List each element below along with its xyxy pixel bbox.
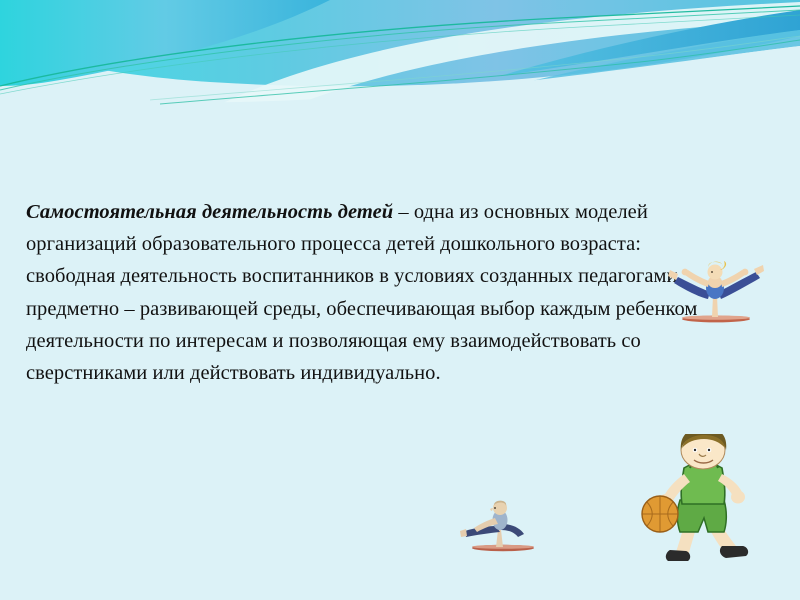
shirt-torso: [493, 510, 508, 530]
wave-shape-blue-band-2: [520, 30, 800, 84]
left-shoe: [666, 550, 690, 561]
nose: [699, 454, 706, 456]
decorative-wave-band: [0, 0, 800, 120]
left-hand: [659, 494, 673, 506]
low-beam: [472, 545, 534, 551]
basketball: [642, 496, 678, 532]
basketball-seams: [642, 496, 678, 532]
right-eye: [707, 448, 712, 453]
slide-body-text: Самостоятельная деятельность детей – одн…: [26, 196, 750, 389]
wave-shape-base-fill: [0, 46, 800, 120]
left-arm: [664, 474, 690, 502]
boy-dribbling-basketball-clipart: [640, 434, 764, 570]
wave-shape-pale-swoosh: [190, 2, 800, 120]
extended-leg: [465, 526, 500, 537]
hair-highlight: [682, 435, 725, 448]
wave-shape-primary: [0, 0, 800, 86]
wave-line-teal-1: [0, 6, 800, 86]
hair: [681, 434, 726, 450]
left-pupil: [694, 449, 696, 451]
jersey-strap-left: [690, 460, 700, 468]
wave-line-teal-3: [0, 15, 800, 94]
jersey-strap-right: [708, 460, 718, 468]
shorts: [677, 500, 726, 532]
body-paragraph: Самостоятельная деятельность детей – одн…: [26, 196, 750, 389]
basketball-boy-svg: [640, 434, 764, 570]
raised-foot: [754, 265, 764, 275]
body-paragraph-2: свободная деятельность воспитанников в у…: [26, 265, 697, 384]
mouth: [694, 460, 713, 463]
right-leg: [704, 512, 736, 554]
gymnast-bar-svg: [460, 496, 546, 554]
forward-arm: [474, 518, 498, 532]
left-eye: [693, 448, 698, 453]
right-shoe: [720, 546, 748, 558]
wave-shape-deep-blue-band: [500, 10, 800, 76]
face-profile: [490, 508, 493, 511]
right-pupil: [708, 449, 710, 451]
wave-line-teal-5: [150, 36, 800, 100]
hair: [494, 501, 506, 506]
right-hand: [731, 491, 745, 504]
wave-line-teal-2: [0, 10, 800, 90]
head: [681, 434, 725, 469]
wave-graphic: [0, 0, 800, 120]
low-beam-top: [472, 545, 534, 549]
presentation-slide: Самостоятельная деятельность детей – одн…: [0, 0, 800, 600]
wave-line-teal-4: [160, 40, 800, 104]
eye: [494, 507, 496, 509]
neck: [696, 456, 710, 466]
rear-leg: [501, 524, 524, 537]
head: [493, 501, 507, 515]
support-leg: [496, 530, 503, 547]
extended-foot: [460, 529, 467, 537]
gymnast-on-low-bar-clipart: [460, 496, 546, 554]
jersey: [681, 463, 725, 504]
wave-shape-left-wedge: [0, 0, 330, 86]
left-leg: [676, 512, 700, 556]
lead-phrase: Самостоятельная деятельность детей: [26, 201, 393, 223]
right-arm: [718, 474, 742, 498]
